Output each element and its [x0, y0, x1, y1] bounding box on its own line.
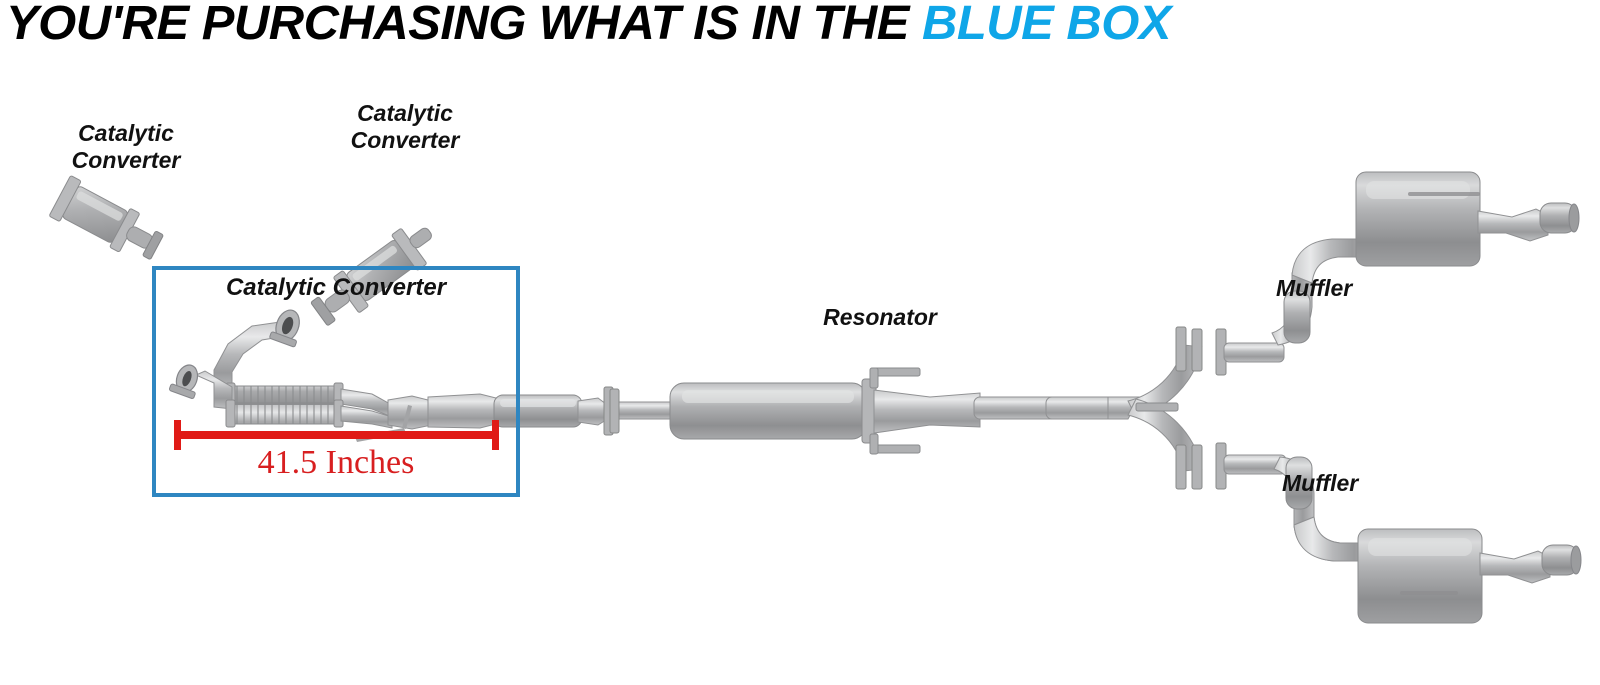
resonator-hanger-lower [872, 445, 920, 453]
page-title: YOU'RE PURCHASING WHAT IS IN THE BLUE BO… [6, 0, 1600, 52]
catalytic-converter-thumbnail-left [49, 175, 168, 267]
label-catalytic-converter-mid: Catalytic Converter [310, 100, 500, 154]
label-muffler-upper: Muffler [1276, 275, 1456, 302]
mid-pipe [974, 397, 1114, 419]
label-muffler-lower: Muffler [1282, 470, 1462, 497]
page-title-plain: YOU'RE PURCHASING WHAT IS IN THE [6, 0, 922, 50]
resonator-hanger-upper [872, 368, 920, 376]
muffler-upper-assembly [1216, 172, 1579, 375]
page-title-highlight: BLUE BOX [922, 0, 1171, 50]
muffler-lower-body [1358, 529, 1482, 623]
y-pipe-splitter [1108, 327, 1202, 489]
label-catalytic-converter-left: Catalytic Converter [36, 120, 216, 174]
exhaust-diagram-page: YOU'RE PURCHASING WHAT IS IN THE BLUE BO… [0, 0, 1600, 685]
tailpipe-upper-tip [1540, 203, 1576, 233]
y-flange-upper [1176, 327, 1186, 371]
blue-box-label: Catalytic Converter [152, 274, 520, 302]
y-flange-lower [1176, 445, 1186, 489]
label-resonator: Resonator [730, 304, 1030, 331]
outlet-flange [604, 387, 613, 435]
dimension-text: 41.5 Inches [152, 444, 520, 482]
tailpipe-lower-tip [1542, 545, 1578, 575]
dimension-line [174, 431, 499, 439]
muffler-upper-body [1356, 172, 1480, 266]
resonator-assembly [610, 368, 1116, 454]
resonator-body [670, 383, 866, 439]
